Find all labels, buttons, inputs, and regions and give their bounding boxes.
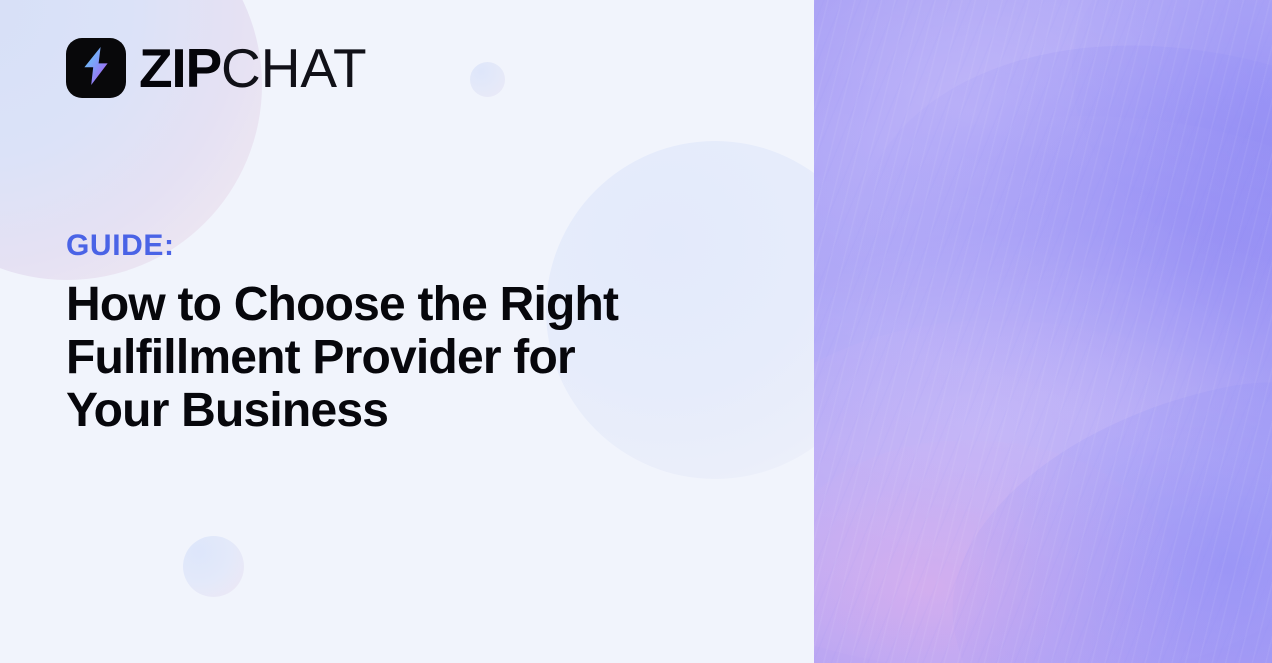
eyebrow-label: GUIDE: <box>66 229 175 263</box>
wave-layer-3 <box>814 0 1272 643</box>
wave-layer-7 <box>916 336 1272 663</box>
headline-line-3: Your Business <box>66 384 766 437</box>
headline-line-1: How to Choose the Right <box>66 278 766 331</box>
logo-wordmark-light: CHAT <box>221 41 367 96</box>
logo-wordmark-bold: ZIP <box>139 41 221 96</box>
headline-line-2: Fulfillment Provider for <box>66 331 766 384</box>
wave-layer-6 <box>814 426 1184 663</box>
lightning-bolt-icon <box>81 47 111 90</box>
zipchat-logo[interactable]: ZIP CHAT <box>66 38 367 98</box>
wave-layer-1 <box>814 0 1272 562</box>
page-title: How to Choose the Right Fulfillment Prov… <box>66 278 766 437</box>
wave-sheen-overlay <box>814 0 1272 663</box>
abstract-gradient-artwork <box>814 0 1272 663</box>
wave-fine-lines <box>814 0 1272 663</box>
hero-banner: ZIP CHAT GUIDE: How to Choose the Right … <box>0 0 1272 663</box>
logo-wordmark: ZIP CHAT <box>139 41 367 96</box>
hero-content: ZIP CHAT GUIDE: How to Choose the Right … <box>0 0 814 663</box>
logo-mark-tile <box>66 38 126 98</box>
wave-layer-5 <box>814 273 1272 663</box>
wave-layer-4 <box>814 79 1272 663</box>
wave-layer-2 <box>1013 0 1272 345</box>
